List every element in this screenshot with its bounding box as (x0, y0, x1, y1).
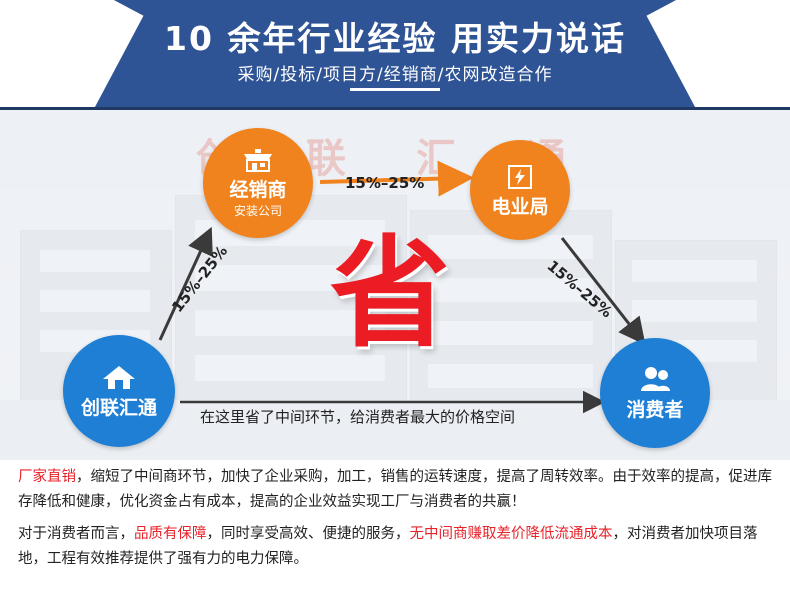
footer-p1-body: ，缩短了中间商环节，加快了企业采购，加工，销售的运转速度，提高了周转效率。由于效… (18, 469, 772, 510)
building-icon (505, 162, 535, 194)
header-bar: 10 余年行业经验 用实力说话 采购/投标/项目方/经销商/农网改造合作 (0, 0, 790, 110)
home-icon (101, 363, 137, 395)
promo-banner: 10 余年行业经验 用实力说话 采购/投标/项目方/经销商/农网改造合作 (0, 0, 790, 602)
shop-icon (241, 147, 275, 177)
flow-diagram: 创 联 汇 通 省 (0, 110, 790, 460)
footer-p2-highlight-1: 品质有保障 (134, 526, 207, 542)
footer-p2-part-c: ，同时享受高效、便捷的服务， (207, 526, 410, 542)
node-dealer[interactable]: 经销商 安装公司 (203, 128, 313, 238)
label-pct-top: 15%–25% (345, 174, 424, 192)
node-power-bureau[interactable]: 电业局 (470, 140, 570, 240)
footer-paragraph-1: 厂家直销，缩短了中间商环节，加快了企业采购，加工，销售的运转速度，提高了周转效率… (18, 465, 774, 516)
center-keyword: 省 (330, 235, 450, 355)
footer-p1-highlight: 厂家直销 (18, 469, 76, 485)
node-dealer-subtitle: 安装公司 (234, 202, 282, 219)
footer-p2-highlight-2: 无中间商赚取差价降低流通成本 (410, 526, 613, 542)
footer-paragraph-2: 对于消费者而言，品质有保障，同时享受高效、便捷的服务，无中间商赚取差价降低流通成… (18, 522, 774, 573)
node-power-bureau-title: 电业局 (491, 197, 548, 218)
diagram-caption: 在这里省了中间环节，给消费者最大的价格空间 (200, 406, 515, 427)
footer-text: 厂家直销，缩短了中间商环节，加快了企业采购，加工，销售的运转速度，提高了周转效率… (0, 460, 790, 602)
node-dealer-title: 经销商 (229, 180, 286, 201)
header-bottom-bar (0, 107, 790, 110)
node-brand-title: 创联汇通 (81, 398, 157, 419)
header-subtitle: 采购/投标/项目方/经销商/农网改造合作 (0, 60, 790, 85)
footer-p2-part-a: 对于消费者而言， (18, 526, 134, 542)
header-underline (350, 88, 440, 91)
user-icon (638, 365, 672, 397)
node-brand[interactable]: 创联汇通 (63, 335, 175, 447)
node-consumer-title: 消费者 (626, 400, 683, 421)
node-consumer[interactable]: 消费者 (600, 338, 710, 448)
header-title: 10 余年行业经验 用实力说话 (0, 12, 790, 60)
